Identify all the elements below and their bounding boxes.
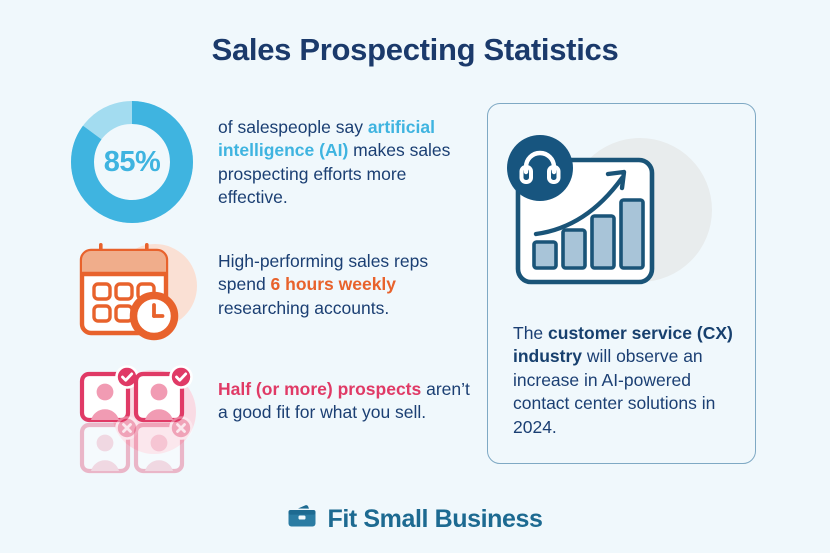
cx-industry-card-text: The customer service (CX) industry will …	[513, 322, 739, 439]
card-text-segment: The	[513, 323, 548, 343]
stat-highlight-hours: 6 hours weekly	[271, 274, 396, 294]
growth-chart-illustration-svg	[504, 122, 730, 322]
person-card-checked	[136, 367, 192, 421]
statistics-list: 85% of salespeople say artificial intell…	[70, 98, 470, 480]
stat-text-prospect-fit: Half (or more) prospects aren’t a good f…	[218, 360, 470, 425]
donut-chart: 85%	[70, 100, 194, 224]
page-title: Sales Prospecting Statistics	[0, 32, 830, 68]
stat-visual-calendar	[70, 232, 218, 360]
stat-item-prospect-fit: Half (or more) prospects aren’t a good f…	[70, 360, 470, 480]
cx-industry-card: The customer service (CX) industry will …	[487, 103, 756, 464]
bar-4	[621, 200, 643, 268]
person-card-rejected	[136, 418, 192, 472]
stat-visual-people	[70, 360, 218, 488]
growth-chart-illustration	[504, 122, 730, 322]
stat-text-research-hours: High-performing sales reps spend 6 hours…	[218, 232, 470, 320]
person-card-rejected	[82, 418, 138, 472]
people-cards-icon-svg	[74, 362, 204, 477]
calendar-clock-icon	[74, 238, 206, 348]
stat-text-segment: researching accounts.	[218, 298, 389, 318]
footer-logo-text: Fit Small Business	[327, 505, 542, 534]
stat-item-research-hours: High-performing sales reps spend 6 hours…	[70, 232, 470, 360]
donut-value-label: 85%	[70, 100, 194, 224]
bar-2	[563, 230, 585, 268]
calendar-clock-icon-svg	[74, 238, 206, 348]
stat-highlight-half: Half (or more) prospects	[218, 379, 421, 399]
person-card-checked	[82, 367, 138, 421]
headset-icon	[507, 135, 573, 201]
bar-1	[534, 242, 556, 268]
stat-item-ai-effectiveness: 85% of salespeople say artificial intell…	[70, 98, 470, 232]
stat-text-ai-effectiveness: of salespeople say artificial intelligen…	[218, 98, 470, 209]
bar-3	[592, 216, 614, 268]
footer-logo: Fit Small Business	[0, 503, 830, 535]
people-cards-icon	[74, 362, 204, 477]
infographic-canvas: Sales Prospecting Statistics 85% of sale…	[0, 0, 830, 553]
briefcase-icon	[287, 503, 318, 535]
stat-visual-donut: 85%	[70, 98, 218, 226]
briefcase-icon-svg	[287, 503, 318, 530]
stat-text-segment: of salespeople say	[218, 117, 368, 137]
